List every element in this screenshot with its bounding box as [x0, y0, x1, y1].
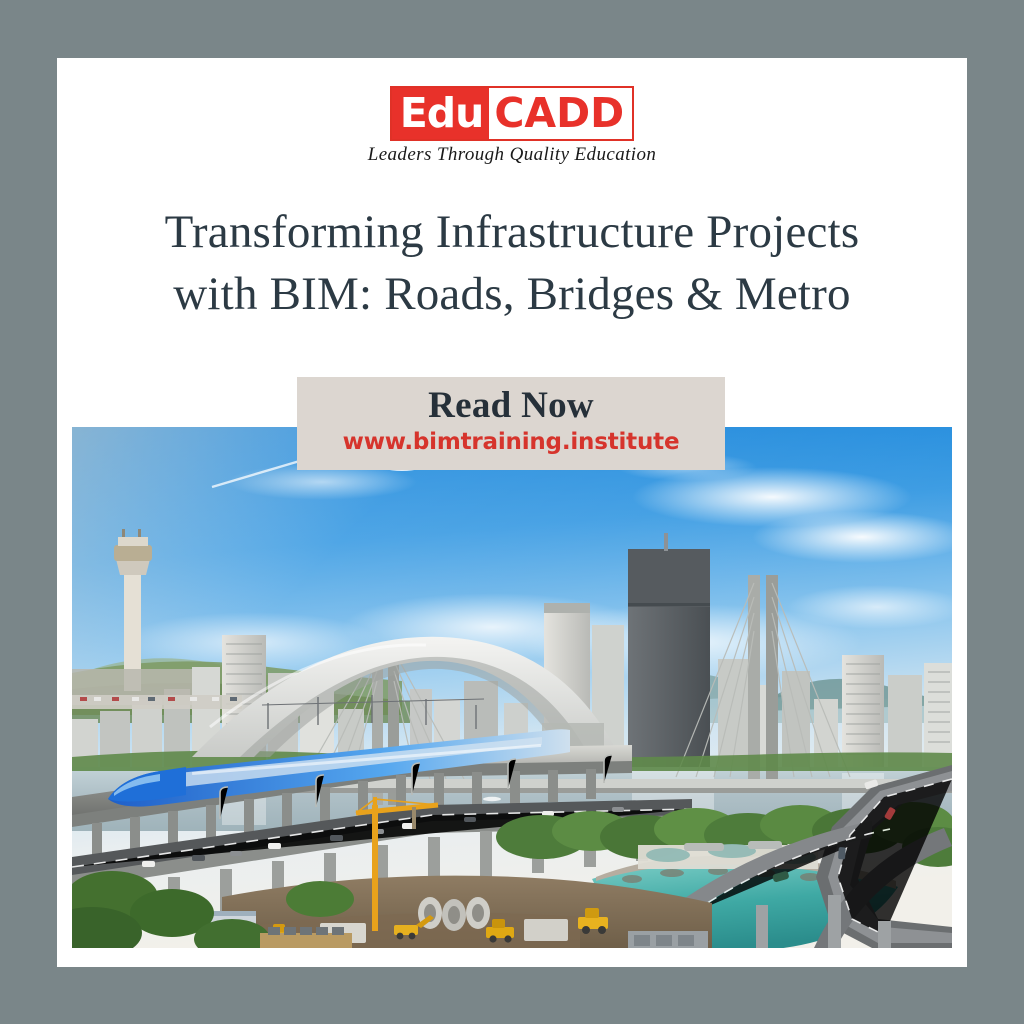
logo-tagline: Leaders Through Quality Education — [57, 144, 967, 166]
headline-line-2: with BIM: Roads, Bridges & Metro — [97, 263, 927, 325]
infrastructure-photo — [72, 427, 952, 948]
cta-banner[interactable]: Read Now www.bimtraining.institute — [297, 377, 725, 470]
photo-illustration — [72, 427, 952, 948]
cta-url[interactable]: www.bimtraining.institute — [297, 428, 725, 456]
logo-word-cadd: CADD — [489, 88, 632, 139]
logo-box: Edu CADD — [390, 86, 634, 141]
brand-logo: Edu CADD Leaders Through Quality Educati… — [57, 86, 967, 166]
cta-title: Read Now — [297, 384, 725, 427]
headline-line-1: Transforming Infrastructure Projects — [165, 206, 860, 258]
logo-word-edu: Edu — [392, 88, 490, 139]
logo-wordmark: Edu CADD — [392, 88, 632, 139]
poster-card: Edu CADD Leaders Through Quality Educati… — [57, 58, 967, 967]
page-title: Transforming Infrastructure Projects wit… — [97, 201, 927, 325]
poster-canvas: Edu CADD Leaders Through Quality Educati… — [0, 0, 1024, 1024]
concrete-pipes — [418, 897, 490, 931]
